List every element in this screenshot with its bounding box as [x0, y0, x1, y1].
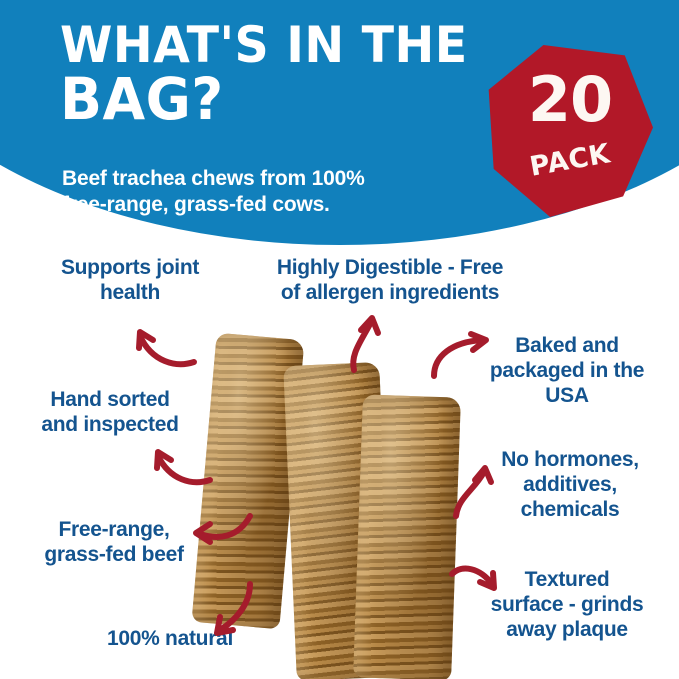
feature-line: away plaque [462, 618, 672, 643]
pack-count-number: 20 [487, 69, 653, 131]
subheadline-line-1: Beef trachea chews from 100% [62, 166, 365, 192]
headline-line-1: WHAT'S IN THE [60, 22, 468, 70]
feature-line: health [30, 281, 230, 306]
feature-label-supports-joint-health: Supports joint health [30, 256, 230, 306]
feature-label-hand-sorted: Hand sorted and inspected [10, 388, 210, 438]
feature-line: Free-range, [14, 518, 214, 543]
arrow-icon-supports-joint-health [130, 322, 200, 368]
subheadline: Beef trachea chews from 100% free-range,… [62, 166, 365, 219]
arrow-icon-baked-packaged-usa [430, 332, 492, 380]
feature-line: Baked and [462, 334, 672, 359]
feature-label-free-range-grass-fed: Free-range, grass-fed beef [14, 518, 214, 568]
feature-line: Highly Digestible - Free [240, 256, 540, 281]
subheadline-line-2: free-range, grass-fed cows. [62, 192, 365, 218]
feature-line: of allergen ingredients [240, 281, 540, 306]
headline-line-2: BAG? [60, 72, 468, 127]
feature-line: packaged in the [462, 359, 672, 384]
feature-label-highly-digestible: Highly Digestible - Free of allergen ing… [240, 256, 540, 306]
arrow-icon-free-range-grass-fed [190, 508, 256, 548]
headline-group: WHAT'S IN THE BAG? [60, 22, 489, 127]
feature-line: and inspected [10, 413, 210, 438]
feature-label-baked-packaged-usa: Baked and packaged in the USA [462, 334, 672, 408]
arrow-icon-highly-digestible [348, 312, 396, 374]
pack-count-label: PACK [486, 131, 655, 190]
feature-line: USA [462, 384, 672, 409]
arrow-icon-no-hormones [452, 462, 504, 520]
feature-line: grass-fed beef [14, 543, 214, 568]
arrow-icon-hand-sorted [148, 442, 216, 488]
product-infographic: WHAT'S IN THE BAG? Beef trachea chews fr… [0, 0, 679, 679]
arrow-icon-textured-surface [448, 562, 504, 600]
feature-line: Supports joint [30, 256, 230, 281]
trachea-chew-piece [353, 394, 461, 679]
feature-line: Hand sorted [10, 388, 210, 413]
arrow-icon-100-percent-natural [198, 578, 256, 640]
